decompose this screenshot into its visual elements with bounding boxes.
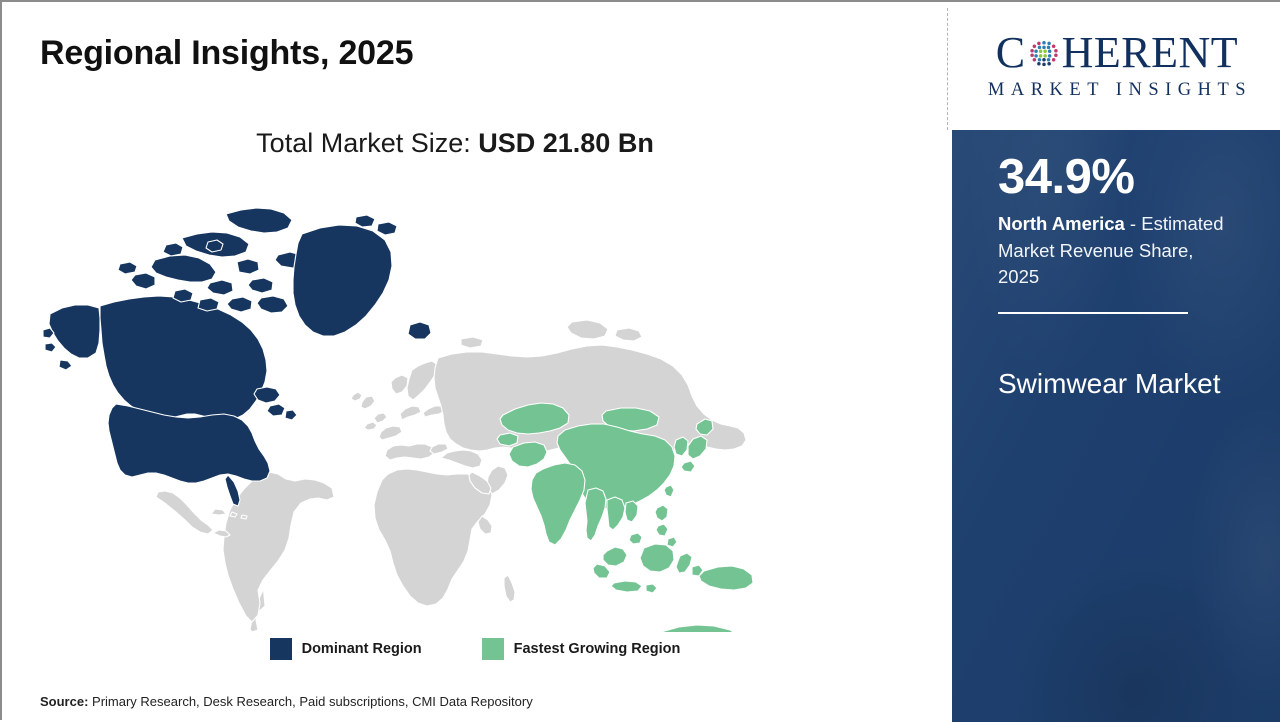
- source-text: Primary Research, Desk Research, Paid su…: [88, 694, 532, 709]
- market-name: Swimwear Market: [998, 362, 1238, 405]
- legend-swatch-dominant-icon: [270, 638, 292, 660]
- dotted-globe-icon: [1027, 36, 1061, 70]
- legend-swatch-fastest-growing-icon: [482, 638, 504, 660]
- logo-word-herent: HERENT: [1062, 31, 1239, 75]
- world-map-svg: [32, 180, 832, 632]
- world-map: [32, 180, 832, 632]
- brand-logo: C: [952, 2, 1280, 130]
- legend-label-fastest-growing: Fastest Growing Region: [514, 641, 681, 657]
- market-share-percentage: 34.9%: [998, 152, 1238, 203]
- logo-subtitle: MARKET INSIGHTS: [982, 80, 1252, 101]
- dominant-region-name: North America: [998, 213, 1125, 234]
- total-market-size: Total Market Size: USD 21.80 Bn: [2, 128, 908, 159]
- source-footer: Source: Primary Research, Desk Research,…: [40, 694, 533, 709]
- source-label: Source:: [40, 694, 88, 709]
- legend-item-dominant: Dominant Region: [270, 638, 422, 660]
- panel-divider: [947, 8, 948, 130]
- logo-wordmark: C: [996, 31, 1238, 75]
- stat-panel: 34.9% North America - Estimated Market R…: [952, 130, 1280, 722]
- stat-divider-rule: [998, 312, 1188, 314]
- legend-label-dominant: Dominant Region: [302, 641, 422, 657]
- page-title: Regional Insights, 2025: [40, 34, 413, 73]
- legend-item-fastest-growing: Fastest Growing Region: [482, 638, 681, 660]
- map-region-north-america: [43, 208, 431, 506]
- left-content-panel: Regional Insights, 2025 Total Market Siz…: [2, 2, 948, 720]
- total-market-size-label: Total Market Size:: [256, 128, 478, 158]
- logo-word-c: C: [996, 31, 1026, 75]
- market-share-description: North America - Estimated Market Revenue…: [998, 211, 1238, 290]
- total-market-size-value: USD 21.80 Bn: [478, 128, 654, 158]
- infographic-root: Regional Insights, 2025 Total Market Siz…: [0, 0, 1280, 720]
- map-legend: Dominant Region Fastest Growing Region: [2, 638, 948, 660]
- stat-panel-content: 34.9% North America - Estimated Market R…: [952, 130, 1280, 405]
